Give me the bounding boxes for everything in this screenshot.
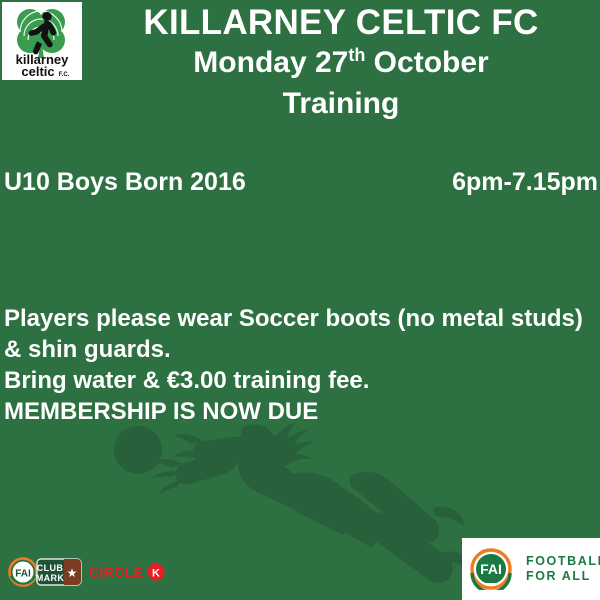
session-time-label: 6pm-7.15pm xyxy=(452,168,598,197)
instruction-line: Players please wear Soccer boots (no met… xyxy=(4,303,600,334)
star-icon: ★ xyxy=(67,566,78,580)
ffa-line1: FOOTBALL xyxy=(526,554,600,568)
svg-text:FAI: FAI xyxy=(15,569,31,580)
event-date-prefix: Monday 27 xyxy=(193,46,348,79)
club-title: KILLARNEY CELTIC FC xyxy=(82,0,600,43)
club-mark-plate: CLUB MARK ★ xyxy=(36,559,81,585)
ffa-line2: FOR ALL xyxy=(526,569,591,583)
club-crest-artwork: killarney celtic F.C. xyxy=(2,2,82,80)
instructions-block: Players please wear Soccer boots (no met… xyxy=(4,303,600,427)
fai-club-mark-artwork: FAI CLUB MARK ★ xyxy=(8,557,82,587)
event-date-ordinal: th xyxy=(348,45,365,65)
fai-ring-icon: FAI xyxy=(470,548,512,590)
svg-text:FAI: FAI xyxy=(480,561,502,577)
circle-k-mark-icon: K xyxy=(147,563,165,581)
fai-football-for-all-panel: FAI FOOTBALL FOR ALL xyxy=(462,538,600,600)
football-icon xyxy=(114,426,162,474)
circle-k-logo: CIRCLE K xyxy=(89,563,165,581)
instruction-line: MEMBERSHIP IS NOW DUE xyxy=(4,396,600,427)
event-type: Training xyxy=(82,83,600,125)
fai-ring-icon: FAI xyxy=(10,559,37,586)
crest-suffix: F.C. xyxy=(59,72,70,78)
club-crest-logo: killarney celtic F.C. xyxy=(2,2,82,80)
svg-text:K: K xyxy=(152,568,160,580)
circle-k-wordmark: CIRCLE xyxy=(89,564,144,580)
instruction-line: Bring water & €3.00 training fee. xyxy=(4,365,600,396)
session-details-row: U10 Boys Born 2016 6pm-7.15pm xyxy=(4,168,598,197)
svg-text:MARK: MARK xyxy=(36,573,65,583)
training-poster: killarney celtic F.C. KILLARNEY CELTIC F… xyxy=(0,0,600,600)
event-date: Monday 27th October xyxy=(82,43,600,83)
instruction-line: & shin guards. xyxy=(4,334,600,365)
svg-text:CLUB: CLUB xyxy=(37,563,64,573)
sponsor-strip: FAI CLUB MARK ★ CIRCLE K xyxy=(8,556,165,588)
fai-club-mark-badge: FAI CLUB MARK ★ xyxy=(8,557,82,587)
event-date-suffix: October xyxy=(365,46,488,79)
crest-name-line2: celtic xyxy=(21,64,54,79)
poster-header: KILLARNEY CELTIC FC Monday 27th October … xyxy=(82,0,600,125)
age-group-label: U10 Boys Born 2016 xyxy=(4,168,246,197)
football-for-all-text: FOOTBALL FOR ALL xyxy=(526,554,600,584)
